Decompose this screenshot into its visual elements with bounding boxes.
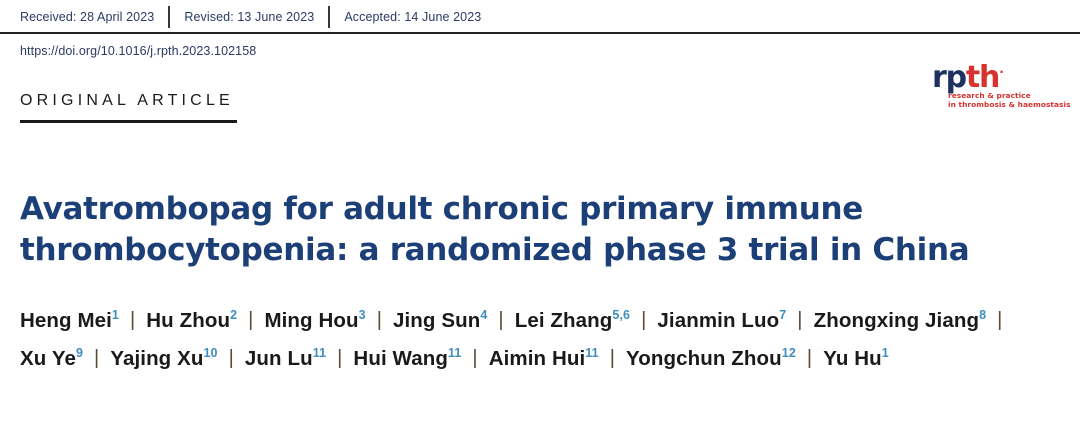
author-name: Hui Wang11	[353, 347, 461, 370]
author-name: Yu Hu1	[823, 347, 889, 370]
author-separator: |	[630, 301, 657, 339]
author-affiliation-marker: 8	[979, 308, 986, 322]
logo-text-th: th	[966, 60, 999, 95]
author-name: Yongchun Zhou12	[626, 347, 796, 370]
author-separator: |	[986, 301, 1013, 339]
logo-tagline-line-2: in thrombosis & haemostasis	[924, 101, 1052, 110]
logo-wordmark: rpth·	[924, 58, 1052, 92]
doi-link[interactable]: https://doi.org/10.1016/j.rpth.2023.1021…	[20, 44, 256, 58]
accepted-date: Accepted: 14 June 2023	[330, 10, 495, 24]
author-affiliation-marker: 1	[882, 346, 889, 360]
author-affiliation-marker: 1	[112, 308, 119, 322]
rpth-journal-logo: rpth· research & practice in thrombosis …	[924, 58, 1052, 109]
article-type-underline	[20, 120, 237, 123]
author-separator: |	[487, 301, 514, 339]
logo-registered-mark: ·	[999, 65, 1002, 79]
article-type-label: ORIGINAL ARTICLE	[20, 92, 234, 110]
received-date: Received: 28 April 2023	[0, 10, 168, 24]
author-name: Yajing Xu10	[110, 347, 217, 370]
author-affiliation-marker: 7	[779, 308, 786, 322]
author-name: Jing Sun4	[393, 309, 487, 332]
author-affiliation-marker: 2	[230, 308, 237, 322]
author-separator: |	[83, 339, 110, 377]
author-name: Heng Mei1	[20, 309, 119, 332]
revised-date: Revised: 13 June 2023	[170, 10, 328, 24]
page-title: Avatrombopag for adult chronic primary i…	[20, 189, 1020, 271]
logo-text-rp: rp	[932, 60, 966, 95]
author-name: Jun Lu11	[245, 347, 326, 370]
author-separator: |	[461, 339, 488, 377]
author-separator: |	[237, 301, 264, 339]
author-affiliation-marker: 11	[448, 346, 461, 360]
author-separator: |	[119, 301, 146, 339]
header-divider-rule	[0, 32, 1080, 34]
author-separator: |	[326, 339, 353, 377]
author-affiliation-marker: 9	[76, 346, 83, 360]
author-list: Heng Mei1|Hu Zhou2|Ming Hou3|Jing Sun4|L…	[20, 302, 1060, 378]
author-separator: |	[218, 339, 245, 377]
author-separator: |	[366, 301, 393, 339]
author-separator: |	[786, 301, 813, 339]
author-separator: |	[796, 339, 823, 377]
author-affiliation-marker: 3	[359, 308, 366, 322]
author-name: Zhongxing Jiang8	[814, 309, 987, 332]
author-affiliation-marker: 4	[480, 308, 487, 322]
author-separator: |	[599, 339, 626, 377]
author-name: Xu Ye9	[20, 347, 83, 370]
author-name: Jianmin Luo7	[657, 309, 786, 332]
publication-dates-bar: Received: 28 April 2023 Revised: 13 June…	[0, 0, 1080, 33]
author-affiliation-marker: 11	[313, 346, 326, 360]
author-name: Hu Zhou2	[146, 309, 237, 332]
author-name: Aimin Hui11	[489, 347, 599, 370]
author-name: Ming Hou3	[264, 309, 365, 332]
author-name: Lei Zhang5,6	[515, 309, 630, 332]
author-affiliation-marker: 10	[204, 346, 218, 360]
author-affiliation-marker: 5,6	[612, 308, 630, 322]
author-affiliation-marker: 11	[585, 346, 598, 360]
author-affiliation-marker: 12	[782, 346, 796, 360]
